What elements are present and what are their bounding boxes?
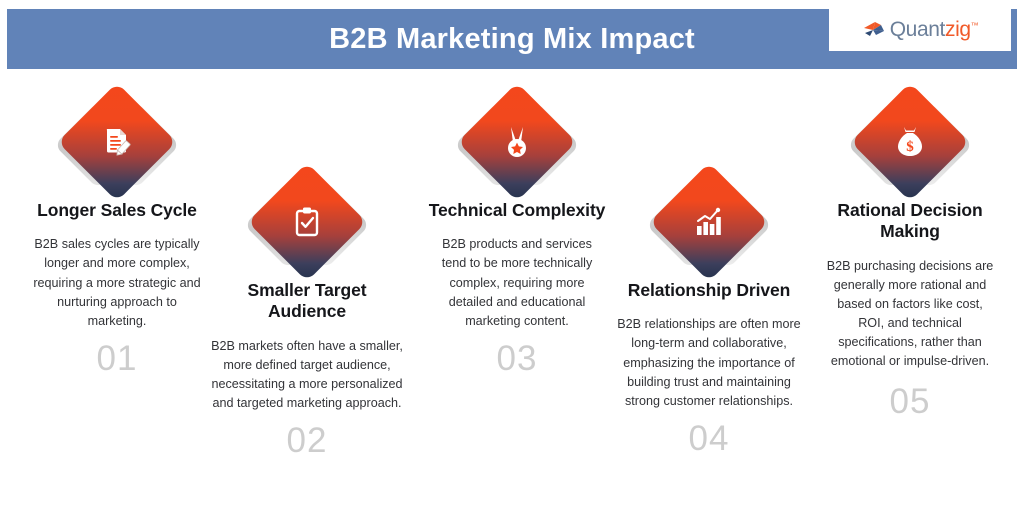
badge-4 xyxy=(611,168,807,276)
card-title: Longer Sales Cycle xyxy=(19,200,215,221)
logo-wordmark: Quantzig™ xyxy=(890,19,978,40)
card-description: B2B relationships are often more long-te… xyxy=(611,315,807,411)
clipboard-checklist-icon xyxy=(265,180,349,264)
brand-logo: Quantzig™ xyxy=(829,9,1011,51)
bar-chart-growth-icon xyxy=(667,180,751,264)
card-number: 05 xyxy=(812,384,1008,419)
card-description: B2B markets often have a smaller, more d… xyxy=(209,337,405,414)
svg-text:$: $ xyxy=(906,139,914,155)
quantzig-fan-logo-icon xyxy=(862,19,888,41)
document-with-pencil-icon xyxy=(75,100,159,184)
card-number: 01 xyxy=(19,341,215,376)
logo-word-zig: zig xyxy=(945,18,971,41)
card-title: Technical Complexity xyxy=(419,200,615,221)
card-longer-sales-cycle: Longer Sales Cycle B2B sales cycles are … xyxy=(19,88,215,376)
money-bag-dollar-icon: $ xyxy=(868,100,952,184)
logo-trademark-symbol: ™ xyxy=(971,21,979,30)
logo-word-quant: Quant xyxy=(890,18,945,41)
page-title: B2B Marketing Mix Impact xyxy=(329,23,695,56)
card-smaller-target-audience: Smaller Target Audience B2B markets ofte… xyxy=(209,168,405,458)
card-number: 03 xyxy=(419,341,615,376)
card-number: 02 xyxy=(209,423,405,458)
card-technical-complexity: Technical Complexity B2B products and se… xyxy=(419,88,615,376)
infographic-page: B2B Marketing Mix Impact Quantzig™ xyxy=(0,0,1024,508)
card-description: B2B purchasing decisions are generally m… xyxy=(826,257,994,372)
card-description: B2B sales cycles are typically longer an… xyxy=(33,235,201,331)
card-title: Rational Decision Making xyxy=(812,200,1008,243)
badge-3 xyxy=(419,88,615,196)
badge-1 xyxy=(19,88,215,196)
badge-2 xyxy=(209,168,405,276)
card-title: Relationship Driven xyxy=(611,280,807,301)
medal-award-star-icon xyxy=(475,100,559,184)
card-number: 04 xyxy=(611,421,807,456)
card-description: B2B products and services tend to be mor… xyxy=(433,235,601,331)
card-relationship-driven: Relationship Driven B2B relationships ar… xyxy=(611,168,807,456)
card-title: Smaller Target Audience xyxy=(209,280,405,323)
badge-5: $ xyxy=(812,88,1008,196)
card-rational-decision-making: $ Rational Decision Making B2B purchasin… xyxy=(812,88,1008,419)
